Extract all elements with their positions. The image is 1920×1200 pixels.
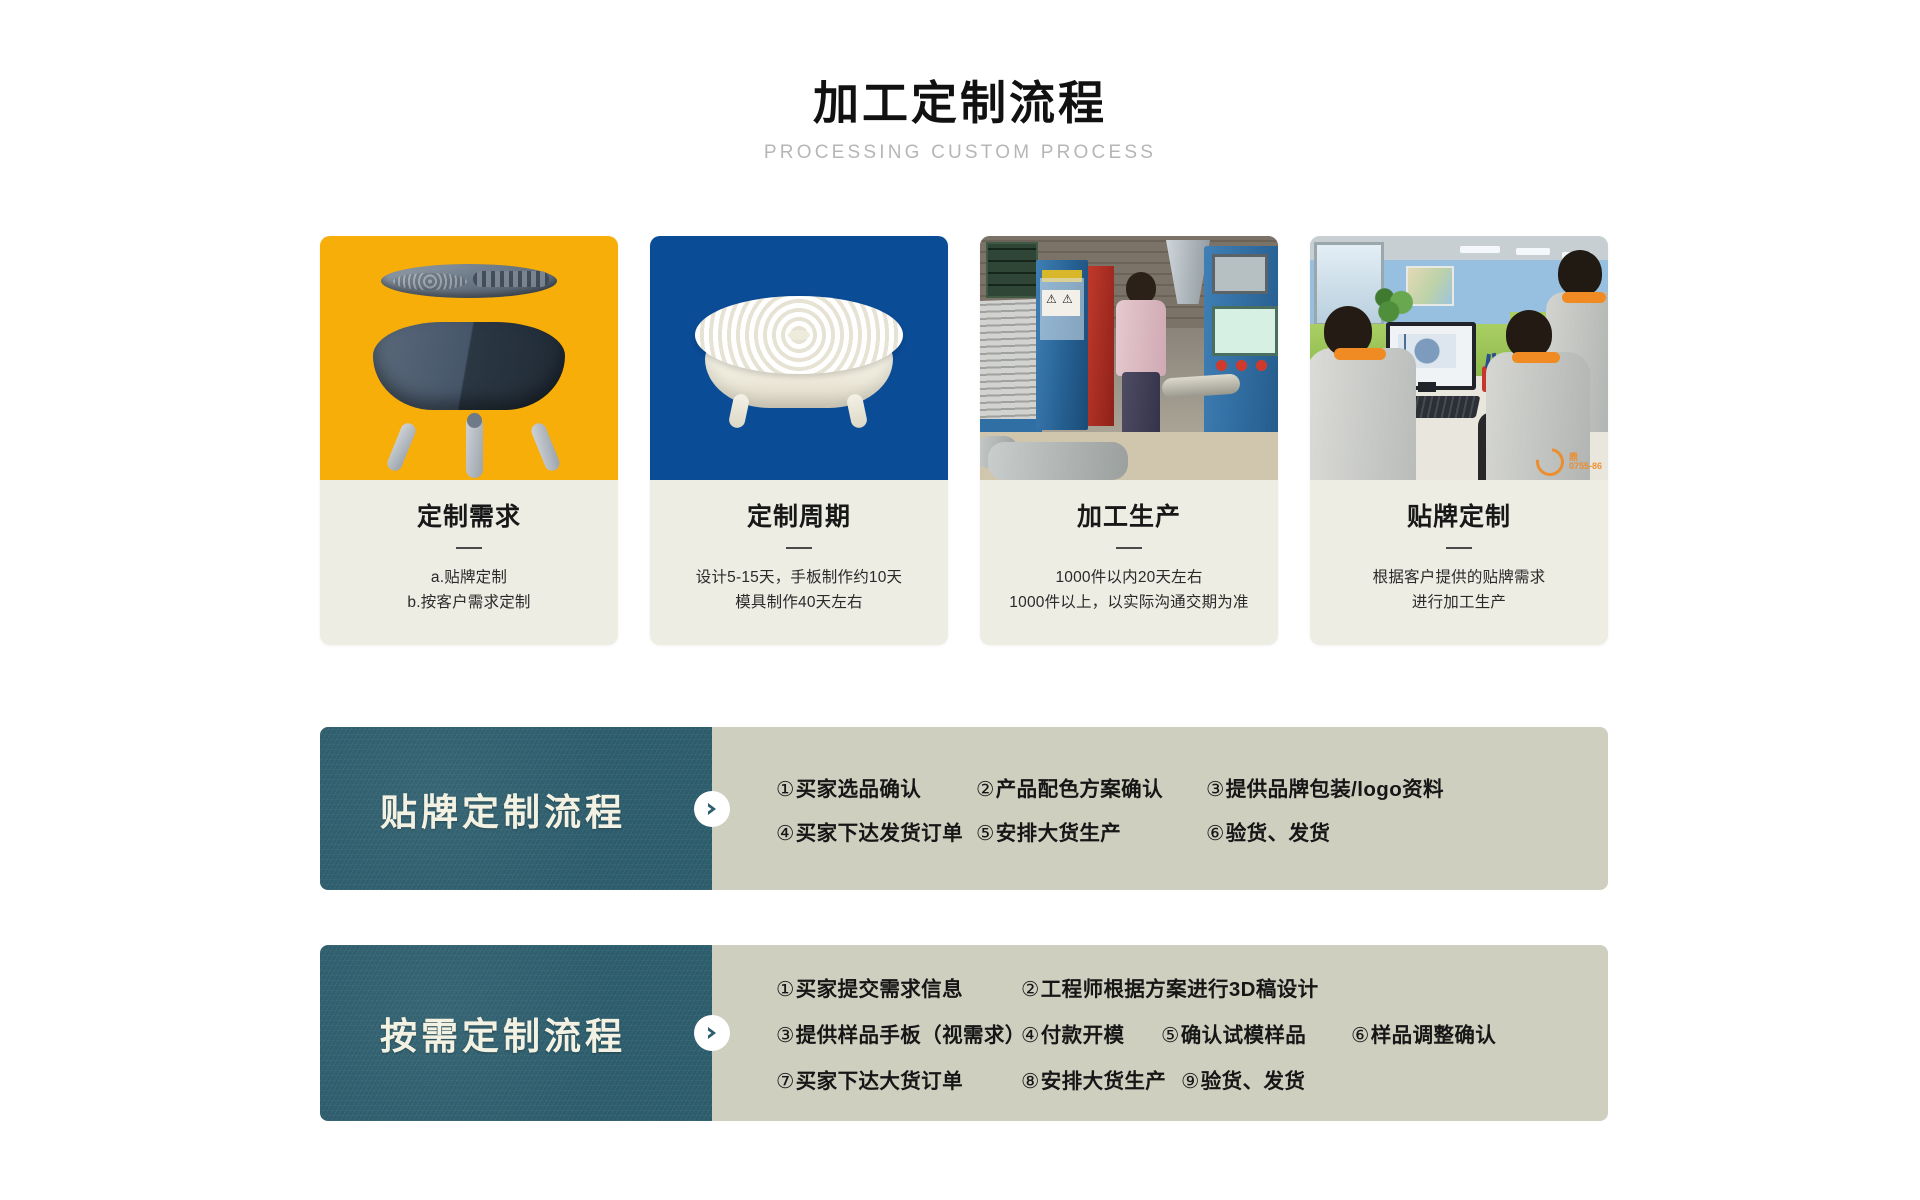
control-screen-upper: [1212, 254, 1268, 294]
process-card-4[interactable]: 鼎 0755-86 贴牌定制 根据客户提供的贴牌需求 进行加工生产: [1310, 236, 1608, 645]
step-label: 验货、发货: [1201, 1070, 1306, 1093]
step-number: ⑧: [1021, 1070, 1040, 1093]
process-card-4-title: 贴牌定制: [1324, 502, 1594, 532]
title-divider: [1446, 547, 1472, 549]
worker-torso: [1116, 300, 1166, 376]
molded-part-large: [988, 442, 1128, 480]
grill-bowl-shape: [373, 322, 565, 410]
process-card-list: 定制需求 a.贴牌定制 b.按客户需求定制 定制周期: [320, 236, 1608, 645]
custom-process-label: 按需定制流程: [380, 1006, 652, 1060]
process-card-1[interactable]: 定制需求 a.贴牌定制 b.按客户需求定制: [320, 236, 618, 645]
step-row: ④买家下达发货订单⑤安排大货生产⑥验货、发货: [776, 809, 1608, 853]
process-step: ⑥样品调整确认: [1351, 1018, 1541, 1048]
step-row: ①买家提交需求信息②工程师根据方案进行3D稿设计: [776, 964, 1608, 1010]
chevron-right-icon[interactable]: [694, 791, 730, 827]
custom-process-banner: 按需定制流程 ①买家提交需求信息②工程师根据方案进行3D稿设计③提供样品手板（视…: [320, 945, 1608, 1121]
process-card-3-body: 加工生产 1000件以内20天左右 1000件以上，以实际沟通交期为准: [980, 480, 1278, 645]
seated-colleague-head: [1506, 310, 1552, 358]
grill-lid-shape: [381, 264, 557, 298]
desc-line: 1000件以内20天左右: [994, 565, 1264, 590]
step-label: 买家下达大货订单: [796, 1070, 963, 1093]
process-step: ⑦买家下达大货订单: [776, 1064, 1021, 1094]
title-divider: [456, 547, 482, 549]
control-screen-lower: [1212, 306, 1278, 356]
process-card-1-title: 定制需求: [334, 502, 604, 532]
step-number: ⑦: [776, 1070, 795, 1093]
step-number: ⑨: [1181, 1070, 1200, 1093]
process-card-3[interactable]: 加工生产 1000件以内20天左右 1000件以上，以实际沟通交期为准: [980, 236, 1278, 645]
prototype-model: [687, 292, 911, 410]
process-card-1-body: 定制需求 a.贴牌定制 b.按客户需求定制: [320, 480, 618, 645]
page-title: 加工定制流程: [0, 78, 1920, 130]
step-number: ④: [776, 822, 795, 845]
process-step: ②产品配色方案确认: [976, 772, 1206, 802]
white-prototype-photo: [650, 236, 948, 480]
page-header: 加工定制流程 PROCESSING CUSTOM PROCESS: [0, 78, 1920, 164]
control-button: [1216, 360, 1227, 371]
ceiling-light: [1516, 248, 1550, 255]
factory-worker: [1112, 272, 1168, 432]
step-number: ②: [976, 778, 995, 801]
step-label: 安排大货生产: [1041, 1070, 1166, 1093]
step-number: ③: [1206, 778, 1225, 801]
process-step: ⑨验货、发货: [1181, 1064, 1371, 1094]
step-label: 工程师根据方案进行3D稿设计: [1041, 978, 1319, 1001]
title-divider: [786, 547, 812, 549]
oem-process-banner: 贴牌定制流程 ①买家选品确认②产品配色方案确认③提供品牌包装/logo资料④买家…: [320, 727, 1608, 890]
monitor-stand: [1418, 382, 1436, 392]
step-label: 提供样品手板（视需求）: [796, 1024, 1026, 1047]
watermark-logo-icon: [1530, 443, 1569, 480]
step-label: 安排大货生产: [996, 822, 1121, 845]
process-step: ①买家选品确认: [776, 772, 976, 802]
exploded-grill-illustration: [320, 236, 618, 480]
designer-body: [1310, 348, 1416, 480]
process-card-3-title: 加工生产: [994, 502, 1264, 532]
step-number: ②: [1021, 978, 1040, 1001]
process-card-2-desc: 设计5-15天，手板制作约10天 模具制作40天左右: [664, 565, 934, 615]
page-root: 加工定制流程 PROCESSING CUSTOM PROCESS 定制需求 a.…: [0, 0, 1920, 1200]
page-subtitle: PROCESSING CUSTOM PROCESS: [0, 142, 1920, 164]
red-machine-column: [1088, 266, 1114, 426]
company-watermark: 鼎 0755-86: [1536, 448, 1602, 476]
oem-process-steps: ①买家选品确认②产品配色方案确认③提供品牌包装/logo资料④买家下达发货订单⑤…: [712, 727, 1608, 890]
step-label: 买家选品确认: [796, 778, 921, 801]
process-step: ⑧安排大货生产: [1021, 1064, 1181, 1094]
process-step: ①买家提交需求信息: [776, 972, 1021, 1002]
stacked-parts: [980, 299, 1036, 423]
process-card-4-body: 贴牌定制 根据客户提供的贴牌需求 进行加工生产: [1310, 480, 1608, 645]
process-step: ⑥验货、发货: [1206, 816, 1486, 846]
process-card-2-body: 定制周期 设计5-15天，手板制作约10天 模具制作40天左右: [650, 480, 948, 645]
standing-colleague-head: [1558, 250, 1602, 296]
step-number: ①: [776, 778, 795, 801]
desc-line: b.按客户需求定制: [334, 590, 604, 615]
grill-leg-center: [466, 416, 483, 478]
step-label: 买家提交需求信息: [796, 978, 963, 1001]
control-button: [1236, 360, 1247, 371]
watermark-line-2: 0755-86: [1569, 462, 1602, 471]
step-number: ⑥: [1206, 822, 1225, 845]
custom-process-label-panel: 按需定制流程: [320, 945, 712, 1121]
step-number: ①: [776, 978, 795, 1001]
process-step: ④买家下达发货订单: [776, 816, 976, 846]
step-label: 提供品牌包装/logo资料: [1226, 778, 1444, 801]
step-number: ⑥: [1351, 1024, 1370, 1047]
step-label: 付款开模: [1041, 1024, 1125, 1047]
process-card-1-desc: a.贴牌定制 b.按客户需求定制: [334, 565, 604, 615]
control-button: [1256, 360, 1267, 371]
desc-line: 进行加工生产: [1324, 590, 1594, 615]
process-card-2-title: 定制周期: [664, 502, 934, 532]
watermark-text: 鼎 0755-86: [1569, 453, 1602, 472]
desc-line: 1000件以上，以实际沟通交期为准: [994, 590, 1264, 615]
step-number: ④: [1021, 1024, 1040, 1047]
step-row: ③提供样品手板（视需求）④付款开模⑤确认试模样品⑥样品调整确认: [776, 1010, 1608, 1056]
seated-colleague-collar: [1512, 352, 1560, 363]
custom-process-steps: ①买家提交需求信息②工程师根据方案进行3D稿设计③提供样品手板（视需求）④付款开…: [712, 945, 1608, 1121]
step-number: ⑤: [1161, 1024, 1180, 1047]
step-label: 确认试模样品: [1181, 1024, 1306, 1047]
title-divider: [1116, 547, 1142, 549]
step-number: ③: [776, 1024, 795, 1047]
process-card-3-desc: 1000件以内20天左右 1000件以上，以实际沟通交期为准: [994, 565, 1264, 615]
designer-collar: [1334, 348, 1386, 360]
step-label: 买家下达发货订单: [796, 822, 963, 845]
process-step: ②工程师根据方案进行3D稿设计: [1021, 972, 1361, 1002]
desc-line: 根据客户提供的贴牌需求: [1324, 565, 1594, 590]
process-step: ⑤确认试模样品: [1161, 1018, 1351, 1048]
warning-label-icon: [1042, 290, 1080, 316]
step-label: 产品配色方案确认: [996, 778, 1163, 801]
process-step: ④付款开模: [1021, 1018, 1161, 1048]
step-number: ⑤: [976, 822, 995, 845]
chevron-right-icon[interactable]: [694, 1015, 730, 1051]
process-step: ③提供样品手板（视需求）: [776, 1018, 1021, 1048]
step-row: ⑦买家下达大货订单⑧安排大货生产⑨验货、发货: [776, 1056, 1608, 1102]
process-card-2[interactable]: 定制周期 设计5-15天，手板制作约10天 模具制作40天左右: [650, 236, 948, 645]
step-label: 样品调整确认: [1371, 1024, 1496, 1047]
design-office-photo: 鼎 0755-86: [1310, 236, 1608, 480]
oem-process-label-panel: 贴牌定制流程: [320, 727, 712, 890]
grill-leg-left: [385, 421, 418, 473]
factory-production-photo: [980, 236, 1278, 480]
ceiling-light: [1460, 246, 1500, 253]
process-step: ⑤安排大货生产: [976, 816, 1206, 846]
step-label: 验货、发货: [1226, 822, 1331, 845]
desc-line: 设计5-15天，手板制作约10天: [664, 565, 934, 590]
oem-process-label: 贴牌定制流程: [380, 782, 652, 836]
step-row: ①买家选品确认②产品配色方案确认③提供品牌包装/logo资料: [776, 765, 1608, 809]
prototype-grill-top: [695, 296, 903, 374]
desc-line: a.贴牌定制: [334, 565, 604, 590]
process-card-4-desc: 根据客户提供的贴牌需求 进行加工生产: [1324, 565, 1594, 615]
desc-line: 模具制作40天左右: [664, 590, 934, 615]
process-step: ③提供品牌包装/logo资料: [1206, 772, 1486, 802]
standing-colleague-collar: [1562, 292, 1606, 303]
grill-leg-right: [529, 421, 562, 473]
factory-window: [986, 242, 1038, 298]
